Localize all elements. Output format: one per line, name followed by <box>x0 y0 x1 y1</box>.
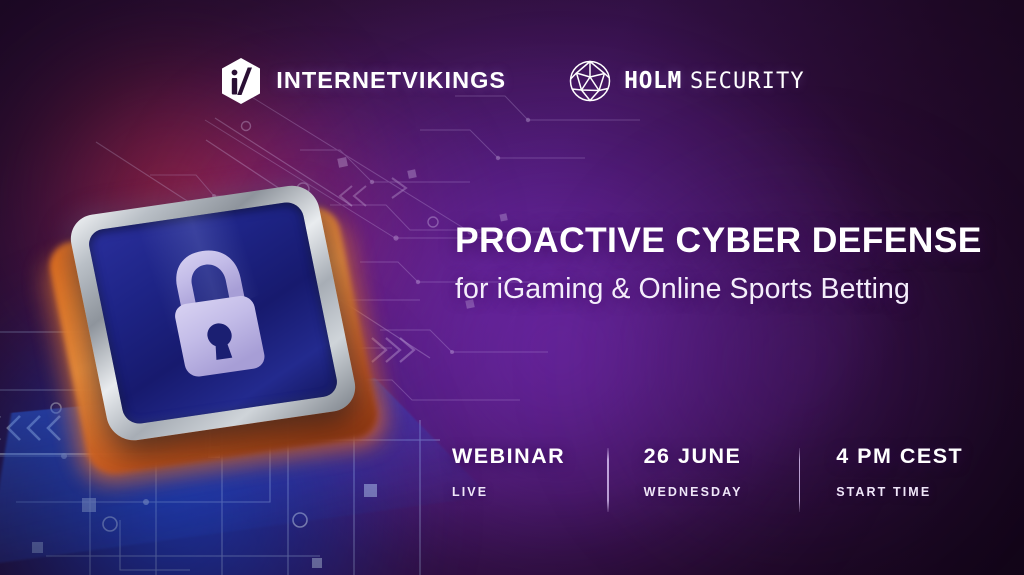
info-time-sublabel: START TIME <box>836 486 985 499</box>
holm-security-sphere-icon <box>568 59 612 103</box>
page-subtitle: for iGaming & Online Sports Betting <box>455 274 995 306</box>
holm-security-logo: HOLM SECURITY <box>568 59 805 103</box>
info-date-label: 26 JUNE <box>644 446 799 468</box>
internetvikings-hexagon-icon <box>219 57 263 105</box>
info-date-sublabel: WEDNESDAY <box>644 486 799 499</box>
info-webinar-label: WEBINAR <box>452 446 607 468</box>
info-time-label: 4 PM CEST <box>836 446 985 468</box>
holm-security-wordmark: HOLM SECURITY <box>624 70 805 93</box>
internetvikings-logo: INTERNETVIKINGS <box>219 57 506 105</box>
page-title: PROACTIVE CYBER DEFENSE <box>455 222 995 260</box>
logo-row: INTERNETVIKINGS <box>0 52 1024 110</box>
holm-word: HOLM <box>624 70 682 93</box>
webinar-promo-banner: INTERNETVIKINGS <box>0 0 1024 575</box>
security-word: SECURITY <box>690 71 805 93</box>
chip-metal-bezel <box>66 182 360 444</box>
info-item-time: 4 PM CEST START TIME <box>800 446 985 498</box>
headline-block: PROACTIVE CYBER DEFENSE for iGaming & On… <box>455 222 995 306</box>
internetvikings-wordmark: INTERNETVIKINGS <box>276 69 506 93</box>
info-webinar-sublabel: LIVE <box>452 486 607 499</box>
info-item-webinar: WEBINAR LIVE <box>452 446 607 498</box>
info-item-date: 26 JUNE WEDNESDAY <box>609 446 799 498</box>
padlock-chip-illustration <box>30 150 420 510</box>
chip-face <box>86 200 340 425</box>
webinar-info-bar: WEBINAR LIVE 26 JUNE WEDNESDAY 4 PM CEST… <box>452 446 982 514</box>
